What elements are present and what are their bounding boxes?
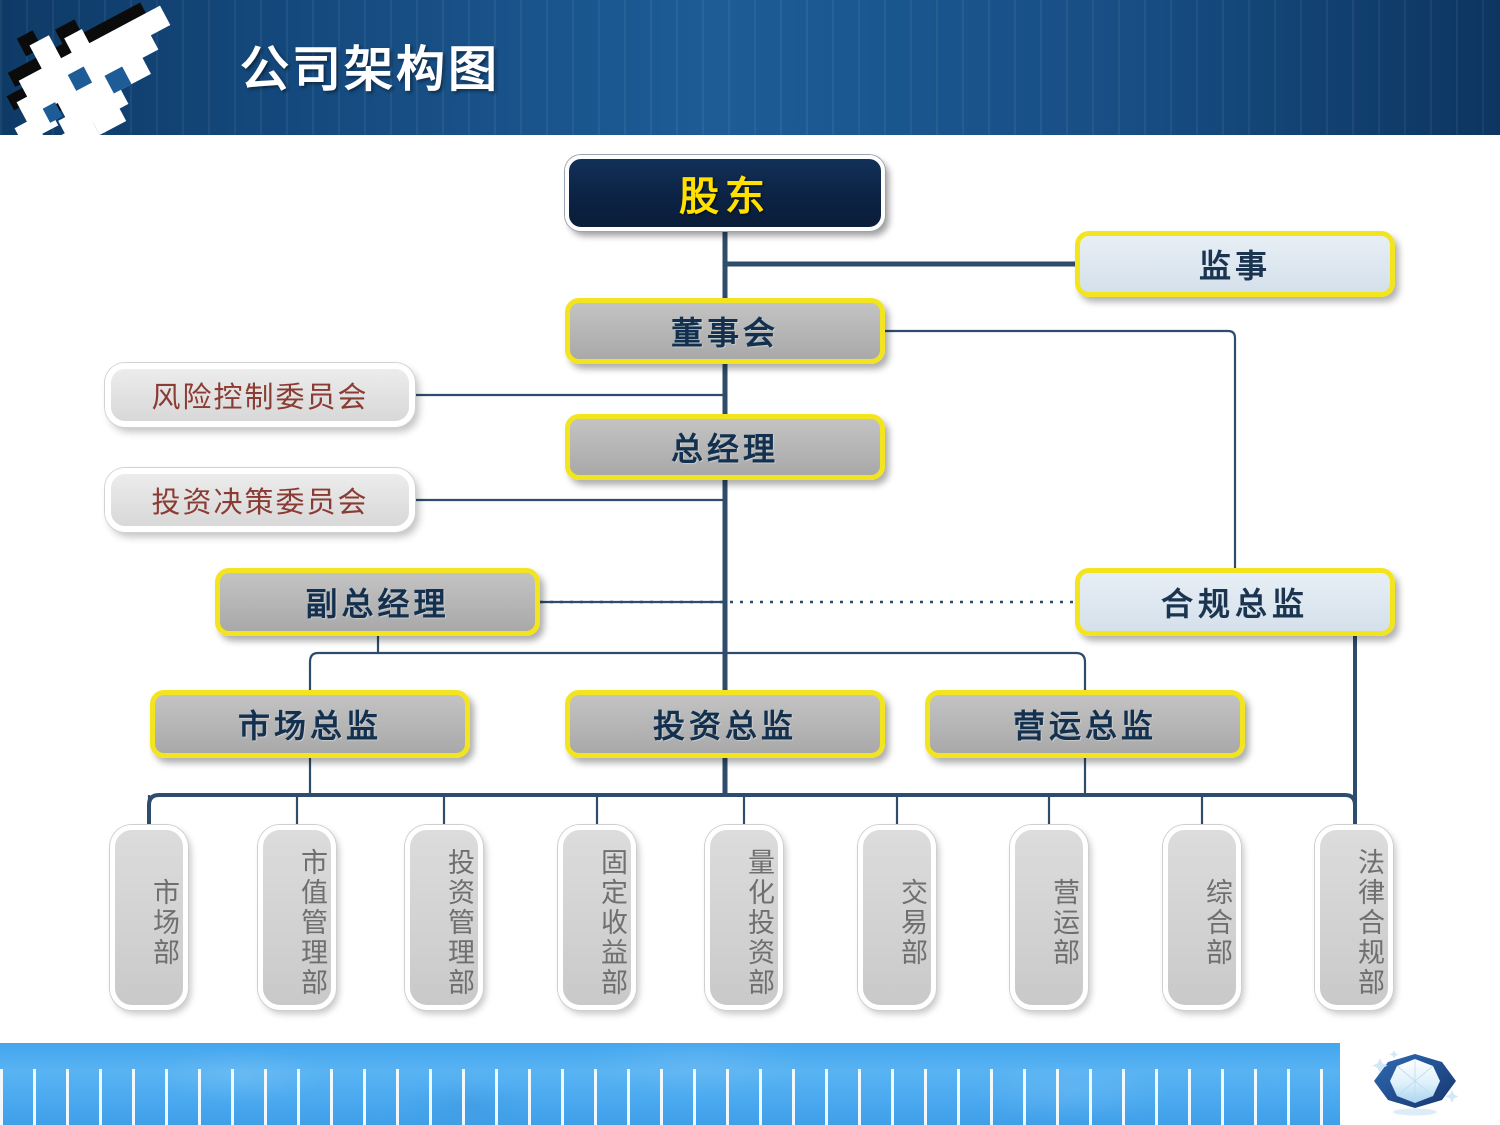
org-chart-canvas: 股东 监事 董事会 风险控制委员会 总经理 投资决策委员会 副总经理 合规总监 …	[0, 135, 1500, 1040]
node-label: 营运总监	[1013, 701, 1157, 747]
page-title: 公司架构图	[240, 30, 500, 101]
node-dept-marketing[interactable]: 市场部	[110, 825, 188, 1010]
node-label: 市值管理部	[292, 848, 331, 998]
node-label: 固定收益部	[592, 848, 631, 998]
node-label: 副总经理	[305, 579, 449, 625]
page-header: 公司架构图	[0, 0, 1500, 135]
node-investment-decision-committee[interactable]: 投资决策委员会	[105, 468, 415, 532]
node-shareholders[interactable]: 股东	[565, 155, 885, 231]
node-label: 市场总监	[238, 701, 382, 747]
node-dept-investment-management[interactable]: 投资管理部	[405, 825, 483, 1010]
node-label: 投资决策委员会	[151, 479, 368, 521]
node-dept-market-value-management[interactable]: 市值管理部	[258, 825, 336, 1010]
footer-band	[0, 1043, 1340, 1125]
node-board-of-directors[interactable]: 董事会	[565, 298, 885, 364]
node-label: 营运部	[1044, 878, 1083, 968]
node-investment-director[interactable]: 投资总监	[565, 690, 885, 758]
node-risk-control-committee[interactable]: 风险控制委员会	[105, 363, 415, 427]
node-operations-director[interactable]: 营运总监	[925, 690, 1245, 758]
node-general-manager[interactable]: 总经理	[565, 414, 885, 480]
header-stripe-pattern	[0, 0, 1500, 135]
node-label: 综合部	[1197, 878, 1236, 968]
node-label: 投资总监	[653, 701, 797, 747]
node-marketing-director[interactable]: 市场总监	[150, 690, 470, 758]
footer-tick-pattern	[0, 1069, 1340, 1125]
node-label: 市场部	[144, 878, 183, 968]
node-label: 合规总监	[1161, 579, 1309, 625]
node-label: 股东	[679, 164, 771, 222]
node-label: 投资管理部	[439, 848, 478, 998]
node-deputy-general-manager[interactable]: 副总经理	[215, 568, 540, 636]
node-label: 监事	[1199, 241, 1271, 287]
blue-gem-icon	[1370, 1046, 1460, 1116]
node-dept-operations[interactable]: 营运部	[1010, 825, 1088, 1010]
node-compliance-director[interactable]: 合规总监	[1075, 568, 1395, 636]
node-label: 交易部	[892, 878, 931, 968]
node-label: 法律合规部	[1349, 848, 1388, 998]
node-label: 量化投资部	[739, 848, 778, 998]
node-dept-trading[interactable]: 交易部	[858, 825, 936, 1010]
node-label: 总经理	[671, 424, 779, 470]
node-label: 董事会	[671, 308, 779, 354]
node-dept-quantitative-investment[interactable]: 量化投资部	[705, 825, 783, 1010]
node-dept-fixed-income[interactable]: 固定收益部	[558, 825, 636, 1010]
node-dept-legal-compliance[interactable]: 法律合规部	[1315, 825, 1393, 1010]
node-dept-general-affairs[interactable]: 综合部	[1163, 825, 1241, 1010]
node-supervisor[interactable]: 监事	[1075, 231, 1395, 297]
node-label: 风险控制委员会	[151, 374, 368, 416]
